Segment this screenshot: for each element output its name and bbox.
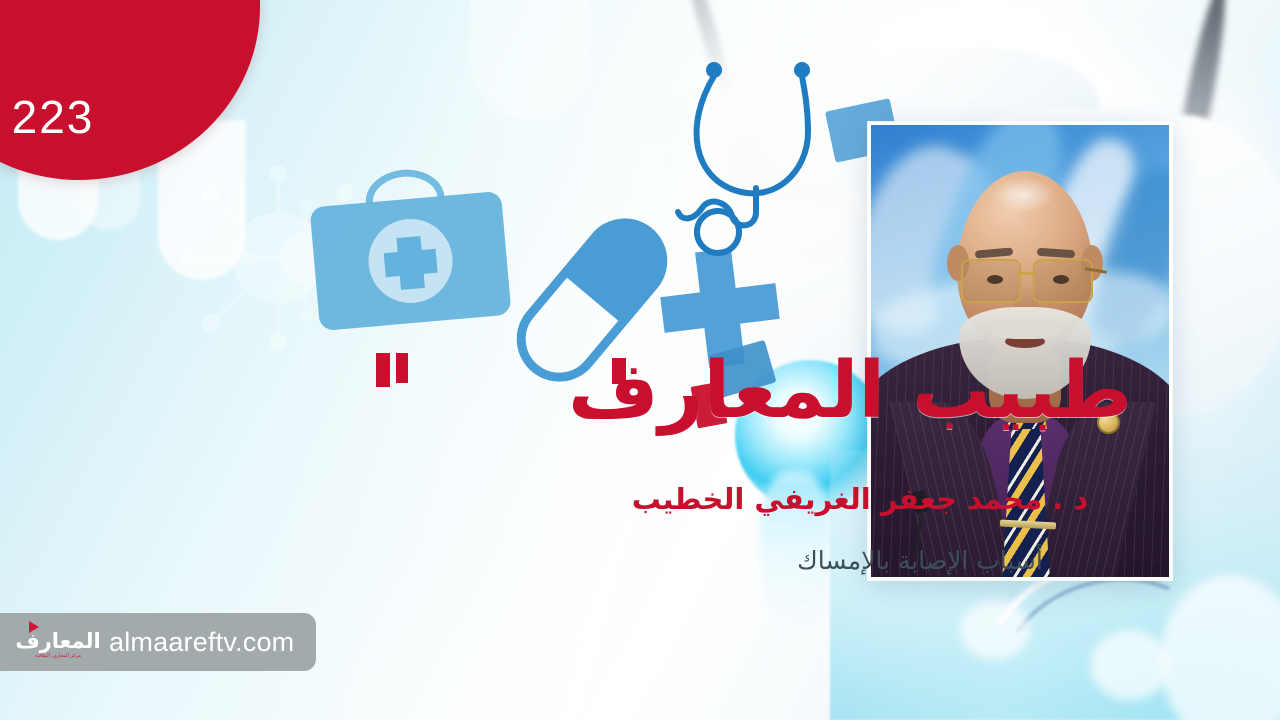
glasses-bridge (1017, 272, 1035, 275)
episode-number: 223 (0, 90, 260, 144)
head-highlight (991, 177, 1055, 213)
episode-topic: أسباب الإصابة بالإمساك (0, 546, 1280, 575)
presenter-name: د . محمد جعفر الغريفي الخطيب (0, 482, 1280, 516)
program-title: طبيب المعارف (0, 352, 1280, 430)
lens-left (961, 259, 1021, 303)
play-triangle-icon (29, 621, 39, 633)
first-aid-kit-icon (300, 165, 520, 345)
almaaref-logo-icon: المعارف مركز المعارف الثقافية (20, 622, 96, 662)
episode-title-card: 223 (0, 0, 1280, 720)
mustache (991, 323, 1061, 339)
lens-right (1033, 259, 1093, 303)
website-url[interactable]: almaareftv.com (109, 627, 294, 658)
eyeglasses (959, 259, 1093, 303)
logo-wordmark: المعارف (15, 631, 100, 652)
logo-tagline: مركز المعارف الثقافية (35, 654, 81, 659)
channel-logo-bar[interactable]: المعارف مركز المعارف الثقافية almaareftv… (0, 613, 316, 671)
